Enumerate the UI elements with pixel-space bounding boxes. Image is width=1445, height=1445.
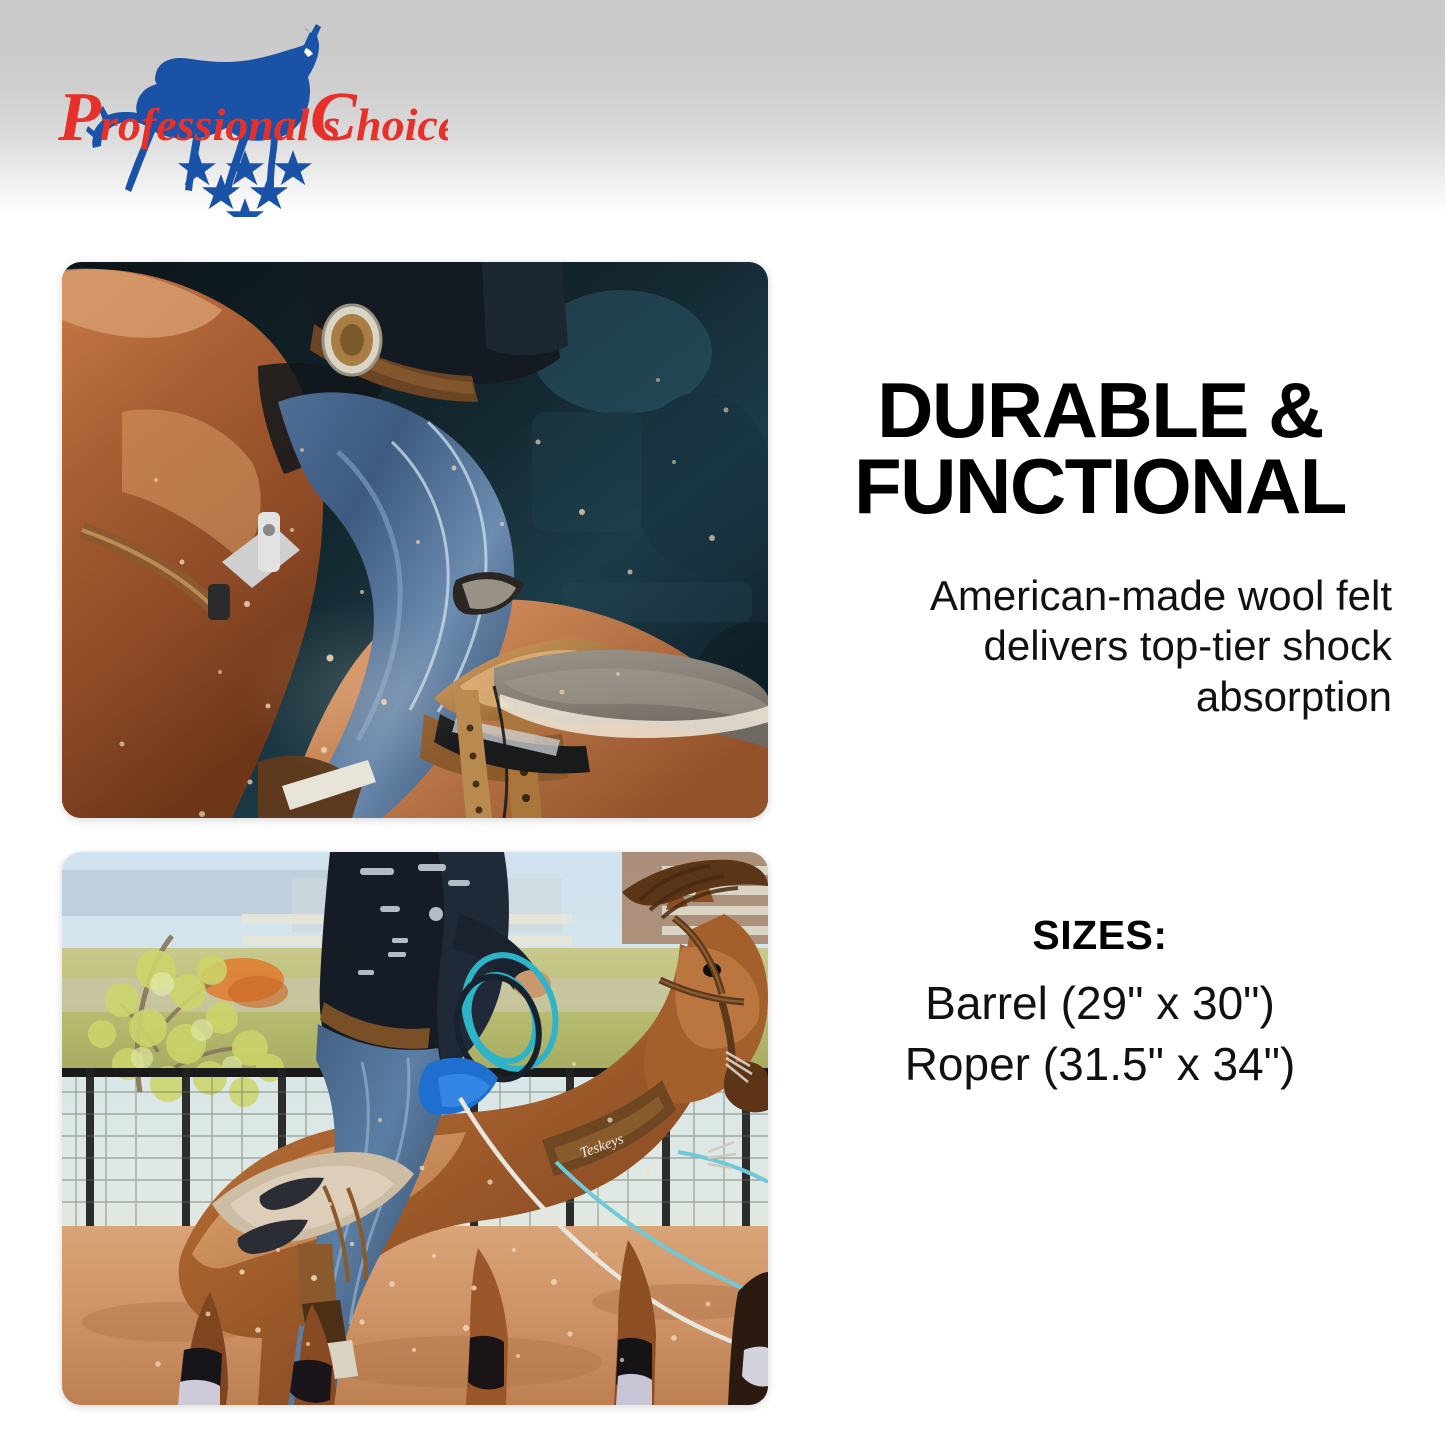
description-line-1: American-made wool felt	[790, 571, 1392, 621]
product-photo-bottom: Teskeys	[62, 852, 768, 1405]
description-line-3: absorption	[790, 672, 1392, 722]
size-option-roper: Roper (31.5" x 34")	[790, 1034, 1410, 1095]
brand-logo: P rofessional's C hoice	[48, 22, 448, 217]
svg-text:P: P	[57, 79, 102, 156]
sizes-section: SIZES: Barrel (29" x 30") Roper (31.5" x…	[790, 912, 1410, 1094]
six-stars-icon	[178, 150, 312, 217]
headline-line-1: DURABLE &	[790, 372, 1410, 448]
description-text: American-made wool felt delivers top-tie…	[790, 571, 1410, 722]
sizes-heading: SIZES:	[790, 912, 1410, 959]
product-photo-top	[62, 262, 768, 818]
size-option-barrel: Barrel (29" x 30")	[790, 973, 1410, 1034]
svg-text:hoice: hoice	[356, 99, 448, 150]
headline-line-2: FUNCTIONAL	[790, 448, 1410, 524]
description-line-2: delivers top-tier shock	[790, 621, 1392, 671]
svg-text:C: C	[310, 79, 358, 156]
svg-text:rofessional's: rofessional's	[100, 99, 340, 150]
marketing-copy-column: DURABLE & FUNCTIONAL American-made wool …	[790, 262, 1410, 1405]
page-title: DURABLE & FUNCTIONAL	[790, 372, 1410, 525]
